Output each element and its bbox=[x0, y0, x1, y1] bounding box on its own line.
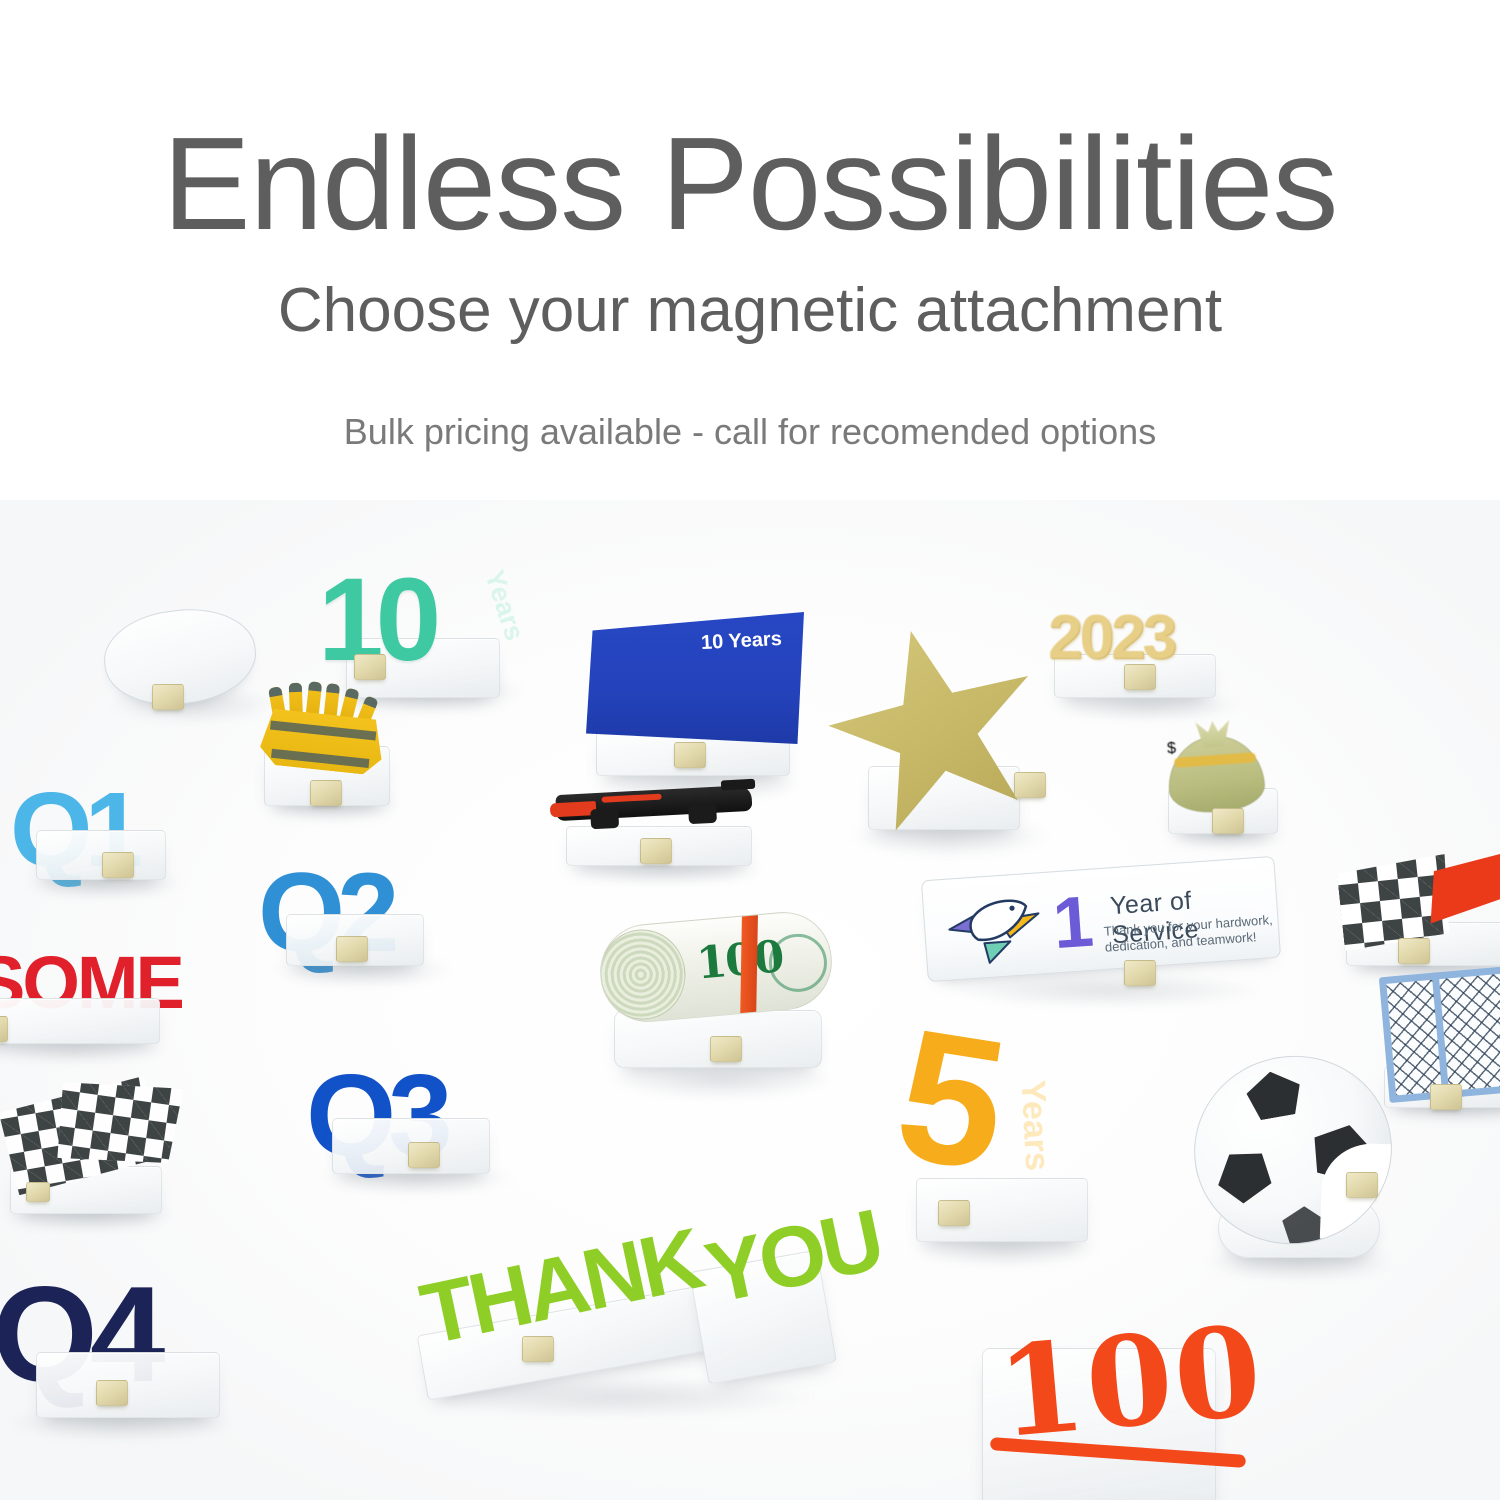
bulk-pricing-tagline: Bulk pricing available - call for recome… bbox=[0, 342, 1500, 450]
magnet-pad bbox=[354, 654, 386, 680]
gold-2023-attachment[interactable]: 2023 bbox=[1048, 602, 1174, 673]
acrylic-base bbox=[0, 998, 160, 1044]
magnet-pad bbox=[152, 684, 184, 710]
magnet-pad bbox=[674, 742, 706, 768]
soccer-ball-attachment[interactable] bbox=[1194, 1056, 1392, 1244]
header: Endless Possibilities Choose your magnet… bbox=[0, 0, 1500, 450]
q3-attachment[interactable]: Q3 bbox=[306, 1048, 445, 1182]
checkered-flag-shape bbox=[1336, 847, 1500, 951]
acrylic-base bbox=[36, 830, 166, 880]
page-title: Endless Possibilities bbox=[0, 0, 1500, 250]
magnet-pad bbox=[310, 780, 342, 806]
page-subtitle: Choose your magnetic attachment bbox=[0, 250, 1500, 342]
money-roll-shape: 100 bbox=[596, 908, 836, 1026]
bill-denomination-label: 100 bbox=[694, 931, 784, 989]
gold-star-attachment[interactable] bbox=[830, 628, 1040, 828]
checkered-flag-attachment[interactable] bbox=[1340, 856, 1500, 942]
magnet-pad bbox=[1212, 808, 1244, 834]
crown-icon bbox=[258, 686, 388, 778]
you-label: YOU bbox=[698, 1191, 889, 1324]
acrylic-base bbox=[36, 1352, 220, 1418]
year-of-service-attachment[interactable]: 1 Year of Service Thank you for your har… bbox=[924, 868, 1278, 970]
race-car-shape bbox=[555, 777, 753, 833]
magnet-pad bbox=[96, 1380, 128, 1406]
ten-years-sublabel: Years bbox=[478, 566, 530, 644]
five-years-shape: 5 Years bbox=[888, 1014, 1005, 1187]
q4-attachment[interactable]: Q4 bbox=[0, 1256, 157, 1412]
service-number-label: 1 bbox=[1051, 886, 1092, 960]
magnet-pad bbox=[1124, 664, 1156, 690]
magnet-pad bbox=[336, 936, 368, 962]
hummingbird-logo-icon bbox=[941, 882, 1058, 970]
magnet-pad bbox=[1346, 1172, 1378, 1198]
q2-attachment[interactable]: Q2 bbox=[258, 848, 391, 977]
magnet-pad bbox=[1430, 1084, 1462, 1110]
magnet-pad bbox=[938, 1200, 970, 1226]
gold-crown-attachment[interactable] bbox=[262, 692, 384, 772]
ten-years-green-attachment[interactable]: 10 Years bbox=[318, 552, 433, 688]
five-years-attachment[interactable]: 5 Years bbox=[900, 1020, 993, 1180]
magnet-pad bbox=[1124, 960, 1156, 986]
money-bag-attachment[interactable]: $ bbox=[1168, 736, 1264, 812]
magnet-pad bbox=[522, 1336, 554, 1362]
magnet-pad bbox=[1014, 772, 1046, 798]
blank-oval-plaque[interactable] bbox=[104, 610, 256, 704]
money-bag-shape: $ bbox=[1165, 733, 1266, 816]
soccer-ball-shape bbox=[1179, 1040, 1407, 1260]
product-photo: 10 Years bbox=[0, 500, 1500, 1500]
five-years-sublabel: Years bbox=[1013, 1079, 1057, 1172]
soccer-goal-attachment[interactable] bbox=[1384, 970, 1500, 1096]
magnet-pad bbox=[26, 1182, 50, 1202]
magnet-pad bbox=[102, 852, 134, 878]
magnet-pad bbox=[0, 1016, 8, 1042]
product-banner-page: Endless Possibilities Choose your magnet… bbox=[0, 0, 1500, 1500]
five-label: 5 bbox=[884, 990, 1009, 1209]
q1-attachment[interactable]: Q1 bbox=[10, 770, 135, 891]
goal-net-shape bbox=[1379, 963, 1500, 1103]
awesome-attachment[interactable]: SOME bbox=[0, 940, 182, 1025]
magnet-pad bbox=[640, 838, 672, 864]
magnet-pad bbox=[408, 1142, 440, 1168]
service-card: 1 Year of Service Thank you for your har… bbox=[921, 856, 1281, 982]
year-label: 2023 bbox=[1048, 603, 1174, 672]
banner-label: 10 Years bbox=[701, 628, 783, 655]
magnet-pad bbox=[1398, 938, 1430, 964]
magnet-pad bbox=[710, 1036, 742, 1062]
money-roll-attachment[interactable]: 100 bbox=[600, 918, 832, 1016]
blue-banner-attachment[interactable]: 10 Years bbox=[586, 612, 804, 744]
race-car-attachment[interactable] bbox=[556, 782, 752, 828]
